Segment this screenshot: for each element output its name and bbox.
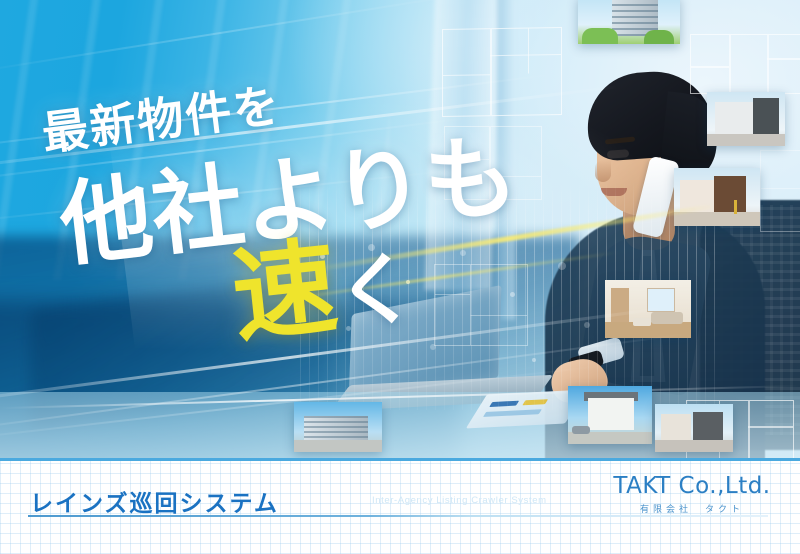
white-two-story-house-photo: [568, 386, 652, 444]
company-name: TAKT Co.,Ltd.: [602, 474, 782, 499]
grey-modern-house-photo: [707, 92, 785, 146]
hero-image: [0, 0, 800, 458]
floorplan-overlay-top-left: [442, 27, 562, 117]
interior-living-room-photo: [605, 280, 691, 338]
company-name-japanese: 有限会社 タクト: [602, 502, 782, 515]
system-name: レインズ巡回システム: [30, 484, 279, 518]
marketing-banner: 最新物件を 他社よりも 速く レインズ巡回システム Inter-Agency L…: [0, 0, 800, 554]
apartment-building-photo: [578, 0, 680, 44]
eye: [607, 149, 630, 159]
floorplan-overlay-top-right: [690, 34, 800, 94]
floorplan-overlay-mid-left: [444, 126, 542, 200]
footer-bar: レインズ巡回システム Inter-Agency Listing Crawler …: [0, 458, 800, 554]
brown-modern-house-photo: [674, 168, 760, 226]
floorplan-overlay-far-right: [760, 150, 800, 232]
system-name-english: Inter-Agency Listing Crawler System: [372, 495, 547, 506]
nose: [595, 160, 611, 182]
footer-divider: [28, 515, 768, 517]
company-logo: TAKT Co.,Ltd. 有限会社 タクト: [602, 474, 782, 515]
residential-street-photo: [655, 404, 733, 452]
apartment-exterior-photo: [294, 402, 382, 452]
footer-content: レインズ巡回システム Inter-Agency Listing Crawler …: [0, 458, 800, 554]
floorplan-overlay-bottom-left: [434, 264, 528, 346]
